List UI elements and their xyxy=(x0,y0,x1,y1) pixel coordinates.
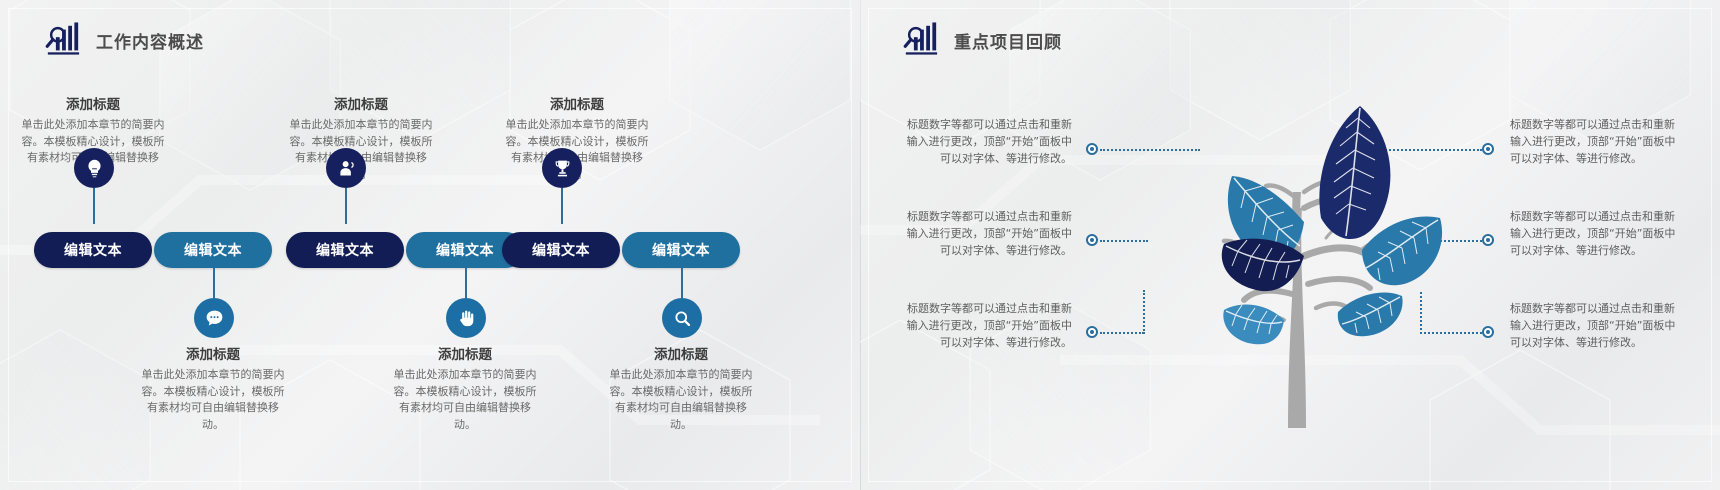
column-title: 添加标题 xyxy=(286,96,436,114)
callout-left-2-text: 标题数字等都可以通过点击和重新输入进行更改，顶部“开始”面板中可以对字体、等进行… xyxy=(904,208,1072,259)
pill-label: 编辑文本 xyxy=(622,232,740,268)
column-body: 单击此处添加本章节的简要内容。本模板精心设计，模板所有素材均可自由编辑替换移动。 xyxy=(390,367,540,433)
column-2-badge-group[interactable] xyxy=(174,268,254,338)
page-title: 重点项目回顾 xyxy=(954,28,1062,53)
connector-stem xyxy=(93,188,95,224)
callout-left-1-text: 标题数字等都可以通过点击和重新输入进行更改，顶部“开始”面板中可以对字体、等进行… xyxy=(904,116,1072,167)
column-6[interactable]: 添加标题 单击此处添加本章节的简要内容。本模板精心设计，模板所有素材均可自由编辑… xyxy=(606,346,756,433)
connector-stem xyxy=(345,188,347,224)
column-1-badge-group[interactable] xyxy=(54,148,134,224)
column-2[interactable]: 添加标题 单击此处添加本章节的简要内容。本模板精心设计，模板所有素材均可自由编辑… xyxy=(138,346,288,433)
callout-right-3-bullet[interactable] xyxy=(1482,326,1494,338)
column-title: 添加标题 xyxy=(502,96,652,114)
leaf-blue-lower-left xyxy=(1223,305,1284,345)
leafy-tree-illustration xyxy=(1108,98,1478,428)
pill-5[interactable]: 编辑文本 xyxy=(502,232,620,268)
callout-left-3-bullet[interactable] xyxy=(1086,326,1098,338)
pill-label: 编辑文本 xyxy=(34,232,152,268)
callout-left-2-bullet[interactable] xyxy=(1086,234,1098,246)
leaf-blue-lower-right xyxy=(1338,293,1403,337)
connector-stem xyxy=(561,188,563,224)
slide-header: 重点项目回顾 xyxy=(902,22,1062,58)
pill-1[interactable]: 编辑文本 xyxy=(34,232,152,268)
connector-stem xyxy=(681,268,683,298)
callout-right-2-text: 标题数字等都可以通过点击和重新输入进行更改，顶部“开始”面板中可以对字体、等进行… xyxy=(1510,208,1678,259)
pill-label: 编辑文本 xyxy=(154,232,272,268)
search-magnifier-icon[interactable] xyxy=(662,298,702,338)
slide-key-projects: 重点项目回顾 标题数字等都可以通过点击和重新输入进行更改，顶部“开始”面板中可以… xyxy=(860,0,1720,490)
pill-label: 编辑文本 xyxy=(502,232,620,268)
chart-magnifier-icon xyxy=(44,22,82,58)
column-4-badge-group[interactable] xyxy=(426,268,506,338)
connector-stem xyxy=(213,268,215,298)
column-body: 单击此处添加本章节的简要内容。本模板精心设计，模板所有素材均可自由编辑替换移动。 xyxy=(606,367,756,433)
callout-left-3-text: 标题数字等都可以通过点击和重新输入进行更改，顶部“开始”面板中可以对字体、等进行… xyxy=(904,300,1072,351)
leaf-navy-large xyxy=(1319,106,1390,239)
pill-6[interactable]: 编辑文本 xyxy=(622,232,740,268)
chart-magnifier-icon xyxy=(902,22,940,58)
column-4[interactable]: 添加标题 单击此处添加本章节的简要内容。本模板精心设计，模板所有素材均可自由编辑… xyxy=(390,346,540,433)
hand-raised-icon[interactable] xyxy=(446,298,486,338)
callout-right-1-bullet[interactable] xyxy=(1482,143,1494,155)
slide-header: 工作内容概述 xyxy=(44,22,204,58)
user-profile-icon[interactable] xyxy=(326,148,366,188)
connector-stem xyxy=(465,268,467,298)
column-title: 添加标题 xyxy=(606,346,756,364)
columns-container: 添加标题 单击此处添加本章节的简要内容。本模板精心设计，模板所有素材均可自由编辑… xyxy=(18,96,778,426)
callout-left-1-bullet[interactable] xyxy=(1086,143,1098,155)
slide-work-overview: 工作内容概述 添加标题 单击此处添加本章节的简要内容。本模板精心设计，模板所有素… xyxy=(0,0,860,490)
pill-3[interactable]: 编辑文本 xyxy=(286,232,404,268)
pill-2[interactable]: 编辑文本 xyxy=(154,232,272,268)
column-title: 添加标题 xyxy=(138,346,288,364)
column-6-badge-group[interactable] xyxy=(642,268,722,338)
pill-label: 编辑文本 xyxy=(286,232,404,268)
page-title: 工作内容概述 xyxy=(96,28,204,53)
column-3-badge-group[interactable] xyxy=(306,148,386,224)
column-body: 单击此处添加本章节的简要内容。本模板精心设计，模板所有素材均可自由编辑替换移动。 xyxy=(138,367,288,433)
callout-right-1-text: 标题数字等都可以通过点击和重新输入进行更改，顶部“开始”面板中可以对字体、等进行… xyxy=(1510,116,1678,167)
column-5-badge-group[interactable] xyxy=(522,148,602,224)
trophy-icon[interactable] xyxy=(542,148,582,188)
callout-right-3-text: 标题数字等都可以通过点击和重新输入进行更改，顶部“开始”面板中可以对字体、等进行… xyxy=(1510,300,1678,351)
column-title: 添加标题 xyxy=(390,346,540,364)
slide-deck: 工作内容概述 添加标题 单击此处添加本章节的简要内容。本模板精心设计，模板所有素… xyxy=(0,0,1720,490)
chat-bubble-icon[interactable] xyxy=(194,298,234,338)
lightbulb-icon[interactable] xyxy=(74,148,114,188)
callout-right-2-bullet[interactable] xyxy=(1482,234,1494,246)
column-title: 添加标题 xyxy=(18,96,168,114)
